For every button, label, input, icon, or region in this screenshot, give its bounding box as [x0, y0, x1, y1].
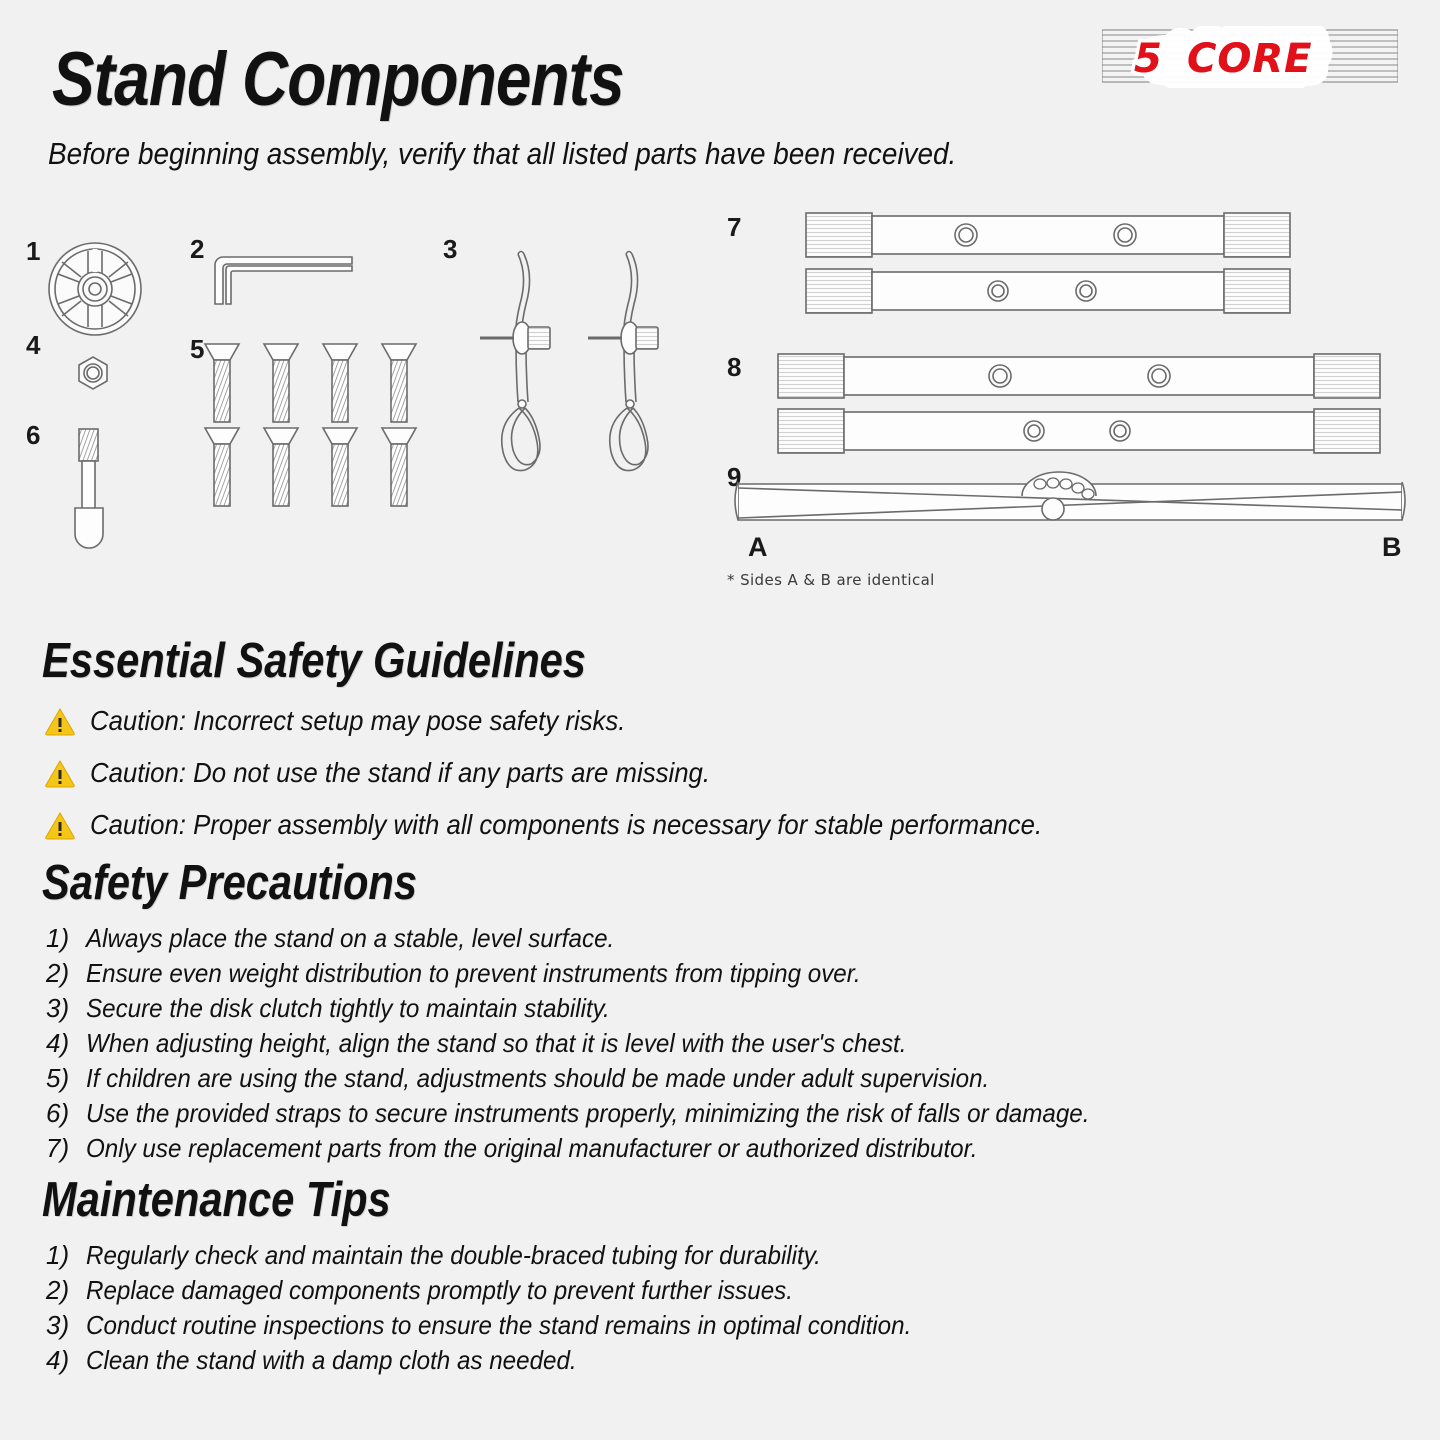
part-1-disk-clutch — [49, 243, 141, 335]
list-item: 1)Regularly check and maintain the doubl… — [46, 1242, 973, 1268]
list-item-number: 7) — [46, 1135, 86, 1161]
part-5-screws — [205, 344, 416, 506]
warning-triangle-icon — [44, 811, 76, 840]
page-subtitle: Before beginning assembly, verify that a… — [48, 136, 956, 172]
list-item-text: If children are using the stand, adjustm… — [86, 1065, 989, 1091]
list-item: 3)Secure the disk clutch tightly to main… — [46, 995, 1165, 1021]
part-number-6: 6 — [26, 420, 40, 450]
list-item-number: 1) — [46, 1242, 86, 1268]
section-heading-maintenance: Maintenance Tips — [42, 1172, 391, 1228]
list-item-number: 6) — [46, 1100, 86, 1126]
page-title: Stand Components — [52, 36, 624, 123]
list-item-text: Regularly check and maintain the double-… — [86, 1242, 821, 1268]
part-number-3: 3 — [443, 234, 457, 264]
part-2-hex-key — [215, 257, 352, 304]
list-item-text: Conduct routine inspections to ensure th… — [86, 1312, 911, 1338]
caution-text-3: Caution: Proper assembly with all compon… — [90, 809, 1042, 841]
list-item: 6)Use the provided straps to secure inst… — [46, 1100, 1165, 1126]
part-number-7: 7 — [727, 212, 741, 242]
caution-text-1: Caution: Incorrect setup may pose safety… — [90, 705, 625, 737]
list-item-text: Only use replacement parts from the orig… — [86, 1135, 978, 1161]
list-item-number: 3) — [46, 1312, 86, 1338]
list-item-number: 2) — [46, 960, 86, 986]
caution-text-2: Caution: Do not use the stand if any par… — [90, 757, 710, 789]
warning-triangle-icon — [44, 759, 76, 788]
section-heading-guidelines: Essential Safety Guidelines — [42, 633, 586, 689]
list-item: 2)Ensure even weight distribution to pre… — [46, 960, 1165, 986]
part-number-8: 8 — [727, 352, 741, 382]
part-number-2: 2 — [190, 234, 204, 264]
list-item-number: 3) — [46, 995, 86, 1021]
list-item: 2)Replace damaged components promptly to… — [46, 1277, 973, 1303]
manual-page: Stand Components Before beginning assemb… — [0, 0, 1440, 1440]
part-9-side-a-label: A — [748, 532, 768, 562]
list-item: 5)If children are using the stand, adjus… — [46, 1065, 1165, 1091]
list-item: 3)Conduct routine inspections to ensure … — [46, 1312, 973, 1338]
list-item: 4)Clean the stand with a damp cloth as n… — [46, 1347, 973, 1373]
list-item-text: Replace damaged components promptly to p… — [86, 1277, 793, 1303]
parts-footnote: * Sides A & B are identical — [727, 571, 935, 589]
section-heading-precautions: Safety Precautions — [42, 855, 417, 911]
list-item-text: Always place the stand on a stable, leve… — [86, 925, 614, 951]
list-item-number: 2) — [46, 1277, 86, 1303]
svg-text:5: 5 — [1134, 36, 1163, 82]
part-9-side-b-label: B — [1382, 532, 1402, 562]
list-item-number: 1) — [46, 925, 86, 951]
caution-row-1: Caution: Incorrect setup may pose safety… — [44, 705, 672, 737]
part-number-5: 5 — [190, 334, 204, 364]
part-3-clamp-arms — [480, 252, 658, 471]
list-item-number: 4) — [46, 1030, 86, 1056]
list-item: 1)Always place the stand on a stable, le… — [46, 925, 1165, 951]
list-item-text: Clean the stand with a damp cloth as nee… — [86, 1347, 577, 1373]
parts-diagram: 1 — [0, 196, 1440, 606]
part-8-tubes — [778, 354, 1380, 453]
list-item-number: 4) — [46, 1347, 86, 1373]
svg-text:CORE: CORE — [1187, 36, 1312, 82]
list-item: 7)Only use replacement parts from the or… — [46, 1135, 1165, 1161]
list-item: 4)When adjusting height, align the stand… — [46, 1030, 1165, 1056]
precautions-list: 1)Always place the stand on a stable, le… — [46, 925, 1165, 1170]
part-6-threaded-pin — [75, 429, 103, 548]
part-number-1: 1 — [26, 236, 40, 266]
caution-row-2: Caution: Do not use the stand if any par… — [44, 757, 764, 789]
list-item-text: Secure the disk clutch tightly to mainta… — [86, 995, 610, 1021]
maintenance-list: 1)Regularly check and maintain the doubl… — [46, 1242, 973, 1382]
part-4-nut — [79, 357, 107, 389]
list-item-text: Ensure even weight distribution to preve… — [86, 960, 861, 986]
list-item-text: When adjusting height, align the stand s… — [86, 1030, 906, 1056]
part-9-leg-assembly — [735, 472, 1405, 520]
caution-row-3: Caution: Proper assembly with all compon… — [44, 809, 1125, 841]
warning-triangle-icon — [44, 707, 76, 736]
part-number-4: 4 — [26, 330, 41, 360]
list-item-text: Use the provided straps to secure instru… — [86, 1100, 1089, 1126]
brand-logo: 5 CORE 5 CORE — [1102, 26, 1398, 88]
list-item-number: 5) — [46, 1065, 86, 1091]
part-7-tubes — [806, 213, 1290, 313]
